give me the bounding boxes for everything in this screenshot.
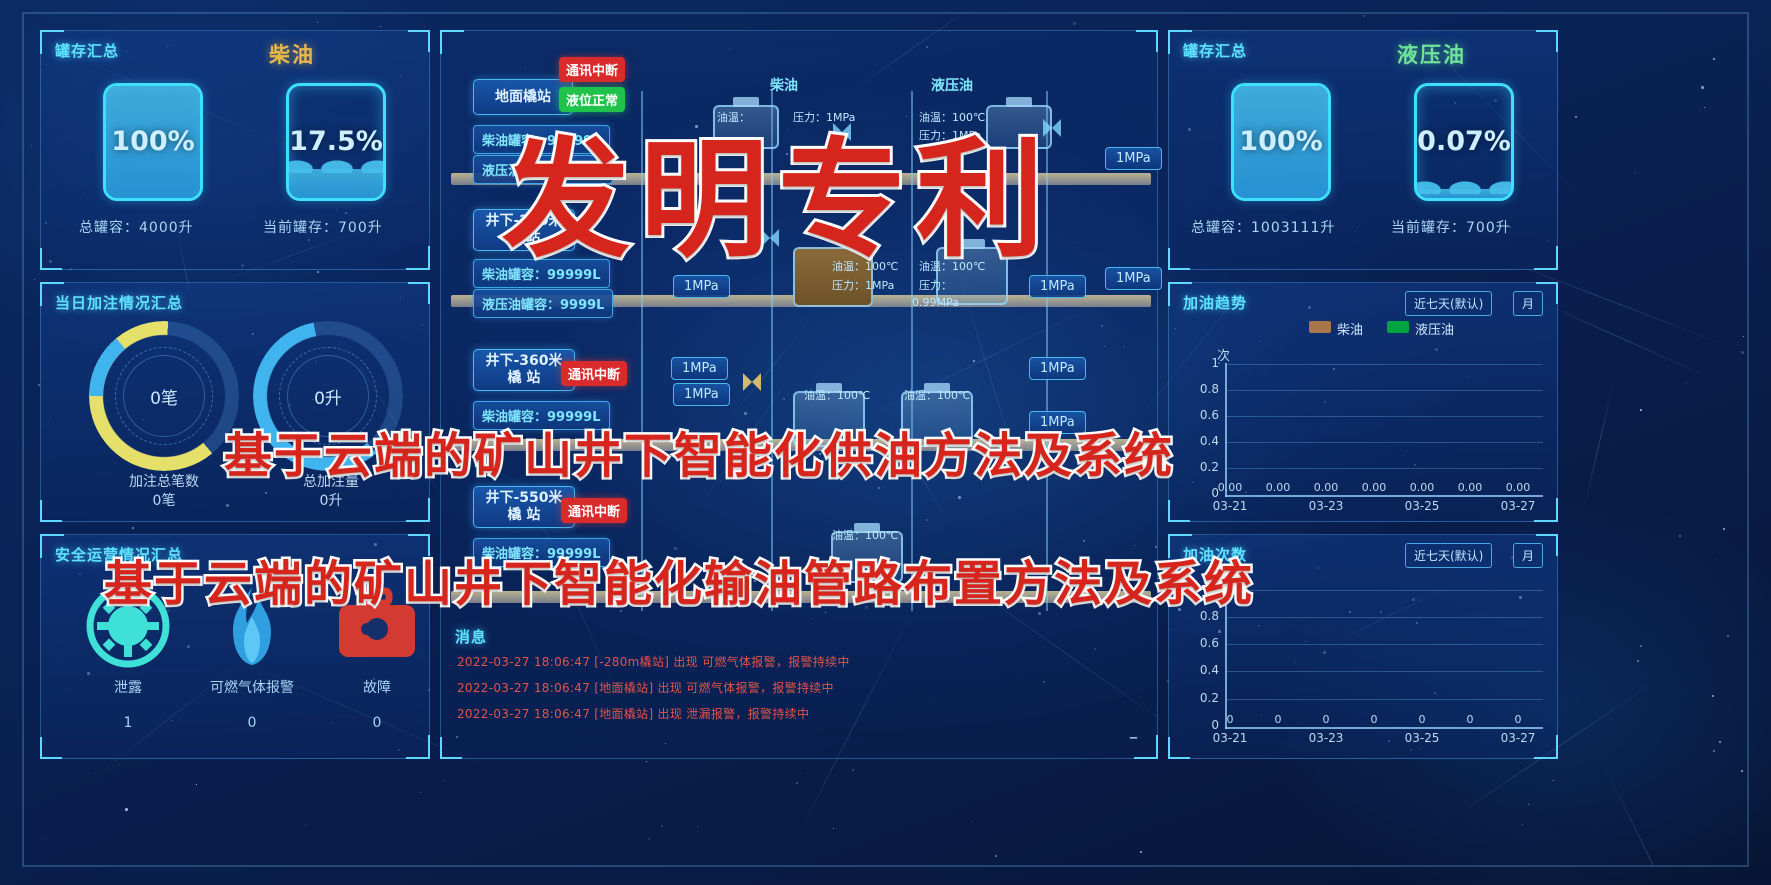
tank-current-value-diesel: 17.5%: [289, 126, 383, 157]
legend-label-hydraulic-trend[interactable]: 液压油: [1415, 319, 1454, 338]
chart-point-label-trend-2: 0.00: [1309, 481, 1343, 494]
tank-total-label-diesel: 总罐容：4000升: [79, 217, 194, 237]
station-minus550-line2: 橇 站: [508, 507, 541, 523]
tank-total-label-hydraulic: 总罐容：1003111升: [1191, 217, 1335, 237]
station-minus360-line1: 井下-360米: [485, 353, 562, 369]
legend-swatch-hydraulic-trend[interactable]: [1387, 321, 1409, 333]
chart-point-label-trend-1: 0.00: [1261, 481, 1295, 494]
pressure-tag-7: 1MPa: [1105, 267, 1162, 290]
chart-ytick-trend-3: 0.4: [1189, 434, 1219, 448]
panel-title-diesel-summary: 罐存汇总: [55, 40, 119, 61]
chart-xaxis-line-count: [1225, 727, 1543, 729]
chart-range-button-week-trend[interactable]: 近七天(默认): [1405, 291, 1492, 316]
tank-total-value-diesel: 100%: [106, 126, 200, 157]
chart-point-label-trend-4: 0.00: [1405, 481, 1439, 494]
chart-gridline-count-0: [1227, 590, 1543, 591]
station-minus360-line2: 橇 站: [508, 370, 541, 386]
dashboard-frame: 罐存汇总 柴油 100% 17.5% 总罐容：4000升 当前罐存：700升 当…: [22, 12, 1749, 867]
donut-gauge-refuel-count: 0笔: [89, 321, 239, 471]
chart-gridline-trend-1: [1227, 390, 1543, 391]
vessel-tag-10: 油温：100℃: [904, 387, 970, 403]
dashboard-root: 罐存汇总 柴油 100% 17.5% 总罐容：4000升 当前罐存：700升 当…: [0, 0, 1771, 885]
chart-xtick-count-2: 03-25: [1399, 731, 1445, 745]
chart-point-label-count-0: 0: [1213, 713, 1247, 726]
tank-current-value-hydraulic: 0.07%: [1417, 126, 1511, 157]
chart-point-label-trend-0: 0.00: [1213, 481, 1247, 494]
chart-xtick-count-1: 03-23: [1303, 731, 1349, 745]
chart-point-label-count-6: 0: [1501, 713, 1535, 726]
chart-xtick-count-3: 03-27: [1495, 731, 1541, 745]
watermark-line-2: 基于云端的矿山井下智能化输油管路布置方法及系统: [104, 544, 1254, 614]
chart-xtick-trend-1: 03-23: [1303, 499, 1349, 513]
station-box-minus550[interactable]: 井下-550米 橇 站: [473, 486, 575, 528]
chart-xtick-trend-3: 03-27: [1495, 499, 1541, 513]
chart-gridline-trend-0: [1227, 364, 1543, 365]
tank-gauge-current-hydraulic: 0.07%: [1414, 83, 1514, 201]
safety-value-leak: 1: [91, 715, 165, 731]
status-badge-minus360-comm: 通讯中断: [561, 361, 627, 386]
tank-gauge-total-hydraulic: 100%: [1231, 83, 1331, 201]
safety-label-gas-alarm: 可燃气体报警: [191, 677, 313, 697]
tank-gauge-total-diesel: 100%: [103, 83, 203, 201]
station-box-minus360[interactable]: 井下-360米 橇 站: [473, 349, 575, 391]
tank-current-label-diesel: 当前罐存：700升: [263, 217, 383, 237]
station-minus550-line1: 井下-550米: [485, 490, 562, 506]
panel-subtitle-diesel: 柴油: [269, 39, 315, 69]
legend-label-diesel-trend[interactable]: 柴油: [1337, 319, 1363, 338]
pressure-tag-4: 1MPa: [1029, 357, 1086, 380]
safety-label-leak: 泄露: [91, 677, 165, 697]
pressure-tag-3: 1MPa: [671, 357, 728, 380]
refuel-count-caption-line2: 0笔: [153, 493, 176, 509]
chart-xtick-trend-2: 03-25: [1399, 499, 1445, 513]
chart-point-label-count-4: 0: [1405, 713, 1439, 726]
chart-ytick-trend-0: 1: [1189, 356, 1219, 370]
status-badge-ground-comm: 通讯中断: [559, 57, 625, 82]
donut-value-refuel-count: 0笔: [89, 321, 239, 471]
chart-yaxis-line-trend: [1225, 363, 1227, 497]
messages-title: 消息: [455, 626, 487, 647]
chart-gridline-count-2: [1227, 644, 1543, 645]
safety-label-fault: 故障: [337, 677, 417, 697]
chart-xtick-count-0: 03-21: [1207, 731, 1253, 745]
chart-ytick-trend-4: 0.2: [1189, 460, 1219, 474]
safety-value-gas-alarm: 0: [191, 715, 313, 731]
message-line-2: 2022-03-27 18:06:47 [地面橇站] 出现 泄漏报警，报警持续中: [457, 705, 809, 722]
chart-point-label-count-3: 0: [1357, 713, 1391, 726]
panel-diesel-tank-summary: 罐存汇总 柴油 100% 17.5% 总罐容：4000升 当前罐存：700升: [40, 30, 430, 270]
pressure-tag-0: 1MPa: [1105, 147, 1162, 170]
chart-title-refuel-trend: 加油趋势: [1183, 292, 1247, 313]
chart-point-label-count-1: 0: [1261, 713, 1295, 726]
chart-range-button-week-count[interactable]: 近七天(默认): [1405, 543, 1492, 568]
tank-current-label-hydraulic: 当前罐存：700升: [1391, 217, 1511, 237]
message-line-0: 2022-03-27 18:06:47 [-280m橇站] 出现 可燃气体报警，…: [457, 653, 850, 670]
chart-point-label-count-5: 0: [1453, 713, 1487, 726]
chart-point-label-trend-6: 0.00: [1501, 481, 1535, 494]
info-chip-minus200-hydraulic: 液压油罐容：9999L: [473, 289, 613, 318]
panel-daily-refuel-summary: 当日加注情况汇总 0笔 加注总笔数 0笔 0升 总加注量 0升: [40, 282, 430, 522]
refuel-volume-caption-line2: 0升: [320, 493, 343, 509]
pressure-tag-5: 1MPa: [673, 383, 730, 406]
status-badge-minus550-comm: 通讯中断: [561, 498, 627, 523]
chart-ytick-trend-1: 0.8: [1189, 382, 1219, 396]
chart-gridline-count-1: [1227, 617, 1543, 618]
panel-hydraulic-tank-summary: 罐存汇总 液压油 100% 0.07% 总罐容：1003111升 当前罐存：70…: [1168, 30, 1558, 270]
vessel-tag-8: 0.99MPa: [912, 296, 959, 309]
chart-xaxis-line-trend: [1225, 495, 1543, 497]
tank-total-value-hydraulic: 100%: [1234, 126, 1328, 157]
panel-refuel-trend-chart: 加油趋势 近七天(默认) 月 柴油 液压油 次 1 0.8 0.6 0.4 0.…: [1168, 282, 1558, 522]
chart-ytick-count-4: 0.2: [1189, 691, 1219, 705]
zoom-out-button[interactable]: –: [1129, 727, 1138, 748]
chart-gridline-count-4: [1227, 699, 1543, 700]
panel-title-daily-refuel: 当日加注情况汇总: [55, 292, 183, 313]
panel-title-hydraulic-summary: 罐存汇总: [1183, 40, 1247, 61]
chart-gridline-trend-4: [1227, 468, 1543, 469]
tank-gauge-current-diesel: 17.5%: [286, 83, 386, 201]
legend-swatch-diesel-trend[interactable]: [1309, 321, 1331, 333]
chart-point-label-trend-3: 0.00: [1357, 481, 1391, 494]
chart-ytick-trend-2: 0.6: [1189, 408, 1219, 422]
safety-value-fault: 0: [337, 715, 417, 731]
chart-point-label-trend-5: 0.00: [1453, 481, 1487, 494]
watermark-title: 发明专利: [502, 96, 1054, 281]
chart-range-button-month-count[interactable]: 月: [1513, 543, 1543, 568]
chart-range-button-month-trend[interactable]: 月: [1513, 291, 1543, 316]
chart-ytick-count-3: 0.4: [1189, 663, 1219, 677]
vessel-tag-11: 油温：100℃: [832, 527, 898, 543]
chart-ytick-count-2: 0.6: [1189, 636, 1219, 650]
refuel-count-caption-line1: 加注总笔数: [129, 474, 199, 490]
watermark-line-1: 基于云端的矿山井下智能化供油方法及系统: [224, 416, 1174, 486]
chart-gridline-trend-3: [1227, 442, 1543, 443]
panel-subtitle-hydraulic: 液压油: [1397, 39, 1466, 69]
valve-icon-3: [741, 371, 763, 393]
chart-point-label-count-2: 0: [1309, 713, 1343, 726]
chart-gridline-trend-2: [1227, 416, 1543, 417]
message-line-1: 2022-03-27 18:06:47 [地面橇站] 出现 可燃气体报警，报警持…: [457, 679, 834, 696]
schematic-header-diesel: 柴油: [770, 75, 798, 95]
chart-gridline-count-3: [1227, 671, 1543, 672]
chart-xtick-trend-0: 03-21: [1207, 499, 1253, 513]
vessel-tag-9: 油温：100℃: [804, 387, 870, 403]
schematic-header-hydraulic: 液压油: [931, 75, 973, 95]
